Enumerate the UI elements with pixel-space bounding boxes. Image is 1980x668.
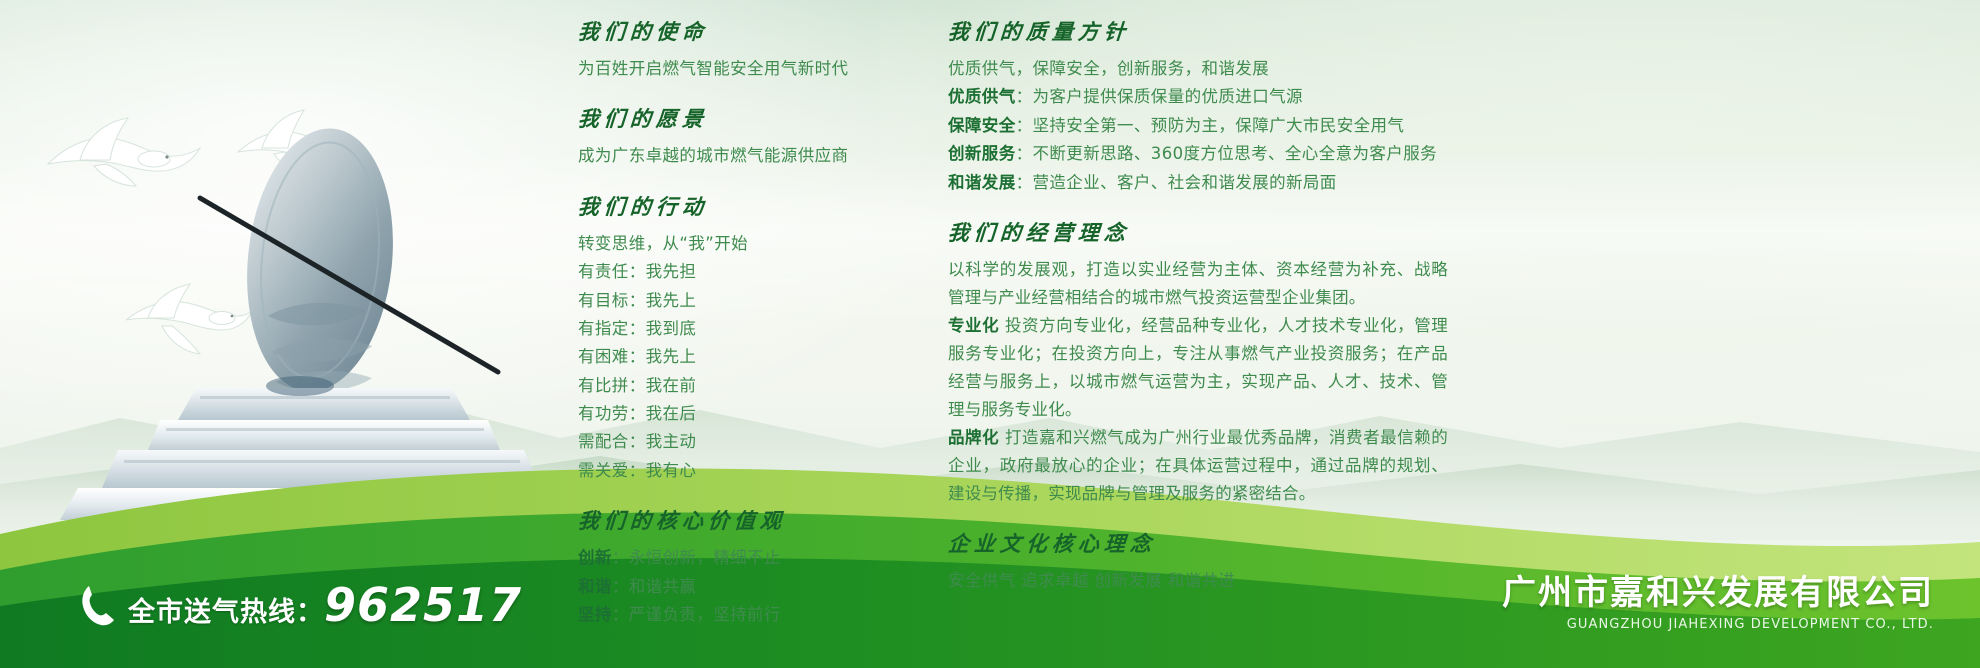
section-right-2: 企业文化核心理念安全供气 追求卓越 创新发展 和谐共进	[948, 528, 1448, 595]
section-line: 有责任：我先担	[578, 258, 928, 286]
paragraph-label: 专业化	[948, 316, 999, 335]
section-left-0: 我们的使命为百姓开启燃气智能安全用气新时代	[578, 16, 928, 83]
section-line: 有指定：我到底	[578, 315, 928, 343]
section-heading: 我们的质量方针	[947, 16, 1449, 46]
section-heading: 企业文化核心理念	[947, 528, 1449, 558]
section-heading: 我们的核心价值观	[577, 505, 929, 535]
company-identity: 广州市嘉和兴发展有限公司 GUANGZHOU JIAHEXING DEVELOP…	[1502, 574, 1934, 632]
section-line: 有目标：我先上	[578, 287, 928, 315]
section-paragraph: 专业化 投资方向专业化，经营品种专业化，人才技术专业化，管理服务专业化；在投资方…	[948, 312, 1448, 424]
stone-monument-sculpture	[0, 120, 560, 520]
section-line: 有比拼：我在前	[578, 372, 928, 400]
section-heading: 我们的行动	[577, 191, 929, 221]
section-line: 和谐：和谐共赢	[578, 573, 928, 601]
section-line: 需配合：我主动	[578, 428, 928, 456]
culture-poster: 全市送气热线：962517 广州市嘉和兴发展有限公司 GUANGZHOU JIA…	[0, 0, 1980, 668]
right-text-column: 我们的质量方针优质供气，保障安全，创新服务，和谐发展优质供气：为客户提供保质保量…	[948, 16, 1448, 596]
phone-icon	[78, 583, 118, 627]
line-label: 优质供气	[948, 87, 1016, 106]
section-line: 创新服务：不断更新思路、360度方位思考、全心全意为客户服务	[948, 140, 1448, 168]
line-label: 创新	[578, 548, 612, 567]
section-line: 和谐发展：营造企业、客户、社会和谐发展的新局面	[948, 169, 1448, 197]
section-heading: 我们的经营理念	[947, 217, 1449, 247]
section-right-0: 我们的质量方针优质供气，保障安全，创新服务，和谐发展优质供气：为客户提供保质保量…	[948, 16, 1448, 197]
section-right-1: 我们的经营理念以科学的发展观，打造以实业经营为主体、资本经营为补充、战略管理与产…	[948, 217, 1448, 508]
line-label: 和谐发展	[948, 173, 1016, 192]
section-line: 有困难：我先上	[578, 343, 928, 371]
section-line: 安全供气 追求卓越 创新发展 和谐共进	[948, 567, 1448, 595]
section-paragraph: 以科学的发展观，打造以实业经营为主体、资本经营为补充、战略管理与产业经营相结合的…	[948, 256, 1448, 312]
section-line: 成为广东卓越的城市燃气能源供应商	[578, 142, 928, 170]
section-paragraph: 品牌化 打造嘉和兴燃气成为广州行业最优秀品牌，消费者最信赖的企业，政府最放心的企…	[948, 424, 1448, 508]
line-label: 坚持	[578, 605, 612, 624]
section-line: 转变思维，从“我”开始	[578, 230, 928, 258]
section-left-3: 我们的核心价值观创新：永恒创新，精细不止和谐：和谐共赢坚持：严谨负责，坚持前行	[578, 505, 928, 629]
section-line: 有功劳：我在后	[578, 400, 928, 428]
line-label: 保障安全	[948, 116, 1016, 135]
line-label: 和谐	[578, 577, 612, 596]
section-heading: 我们的愿景	[577, 103, 929, 133]
section-line: 需关爱：我有心	[578, 457, 928, 485]
company-name-cn: 广州市嘉和兴发展有限公司	[1502, 574, 1934, 613]
hotline-number: 962517	[324, 578, 522, 632]
paragraph-label: 品牌化	[948, 428, 999, 447]
section-line: 保障安全：坚持安全第一、预防为主，保障广大市民安全用气	[948, 112, 1448, 140]
section-line: 优质供气：为客户提供保质保量的优质进口气源	[948, 83, 1448, 111]
section-line: 坚持：严谨负责，坚持前行	[578, 601, 928, 629]
left-text-column: 我们的使命为百姓开启燃气智能安全用气新时代我们的愿景成为广东卓越的城市燃气能源供…	[578, 16, 928, 629]
section-line: 优质供气，保障安全，创新服务，和谐发展	[948, 55, 1448, 83]
section-line: 为百姓开启燃气智能安全用气新时代	[578, 55, 928, 83]
section-left-2: 我们的行动转变思维，从“我”开始有责任：我先担有目标：我先上有指定：我到底有困难…	[578, 191, 928, 485]
company-name-en: GUANGZHOU JIAHEXING DEVELOPMENT CO., LTD…	[1502, 617, 1934, 632]
section-line: 创新：永恒创新，精细不止	[578, 544, 928, 572]
section-heading: 我们的使命	[577, 16, 929, 46]
section-left-1: 我们的愿景成为广东卓越的城市燃气能源供应商	[578, 103, 928, 170]
hotline-group: 全市送气热线：962517	[78, 582, 522, 629]
hotline-label: 全市送气热线：	[128, 597, 324, 628]
line-label: 创新服务	[948, 144, 1016, 163]
